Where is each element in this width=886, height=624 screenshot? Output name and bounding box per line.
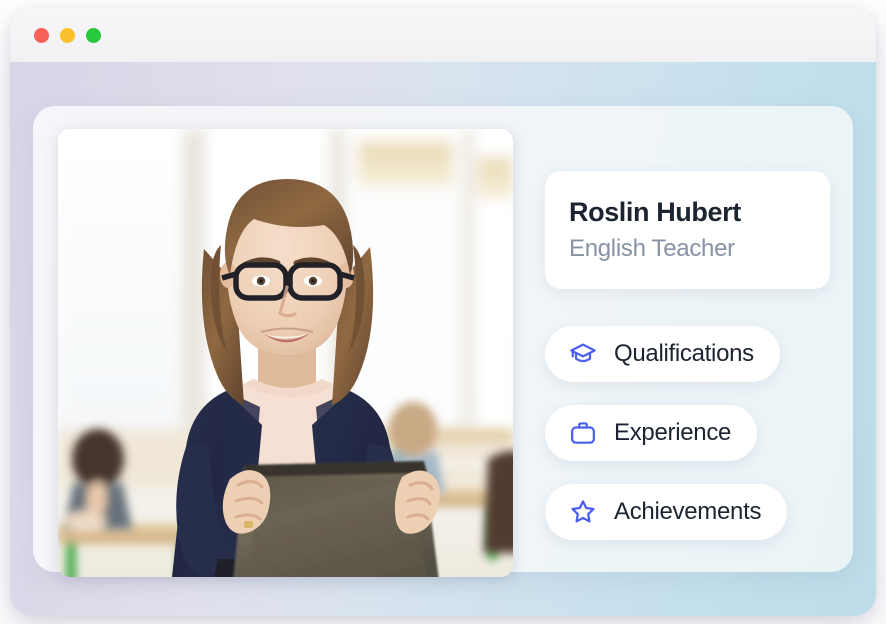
person-role: English Teacher: [569, 233, 830, 264]
action-list: Qualifications Experience: [545, 326, 841, 540]
star-icon: [569, 498, 597, 526]
qualifications-label: Qualifications: [614, 340, 754, 368]
qualifications-button[interactable]: Qualifications: [545, 326, 780, 382]
experience-button[interactable]: Experience: [545, 405, 757, 461]
close-window-button[interactable]: [34, 28, 49, 43]
maximize-window-button[interactable]: [86, 28, 101, 43]
minimize-window-button[interactable]: [60, 28, 75, 43]
experience-label: Experience: [614, 419, 731, 447]
details-panel: Roslin Hubert English Teacher Qualificat: [545, 171, 841, 540]
profile-name-card: Roslin Hubert English Teacher: [545, 171, 830, 289]
teacher-profile-card: Roslin Hubert English Teacher Qualificat: [33, 106, 853, 572]
graduation-cap-icon: [569, 340, 597, 368]
page-body: Roslin Hubert English Teacher Qualificat: [10, 62, 876, 616]
achievements-label: Achievements: [614, 498, 761, 526]
briefcase-icon: [569, 419, 597, 447]
browser-window: Roslin Hubert English Teacher Qualificat: [10, 8, 876, 616]
achievements-button[interactable]: Achievements: [545, 484, 787, 540]
window-title-bar: [10, 8, 876, 62]
person-name: Roslin Hubert: [569, 197, 830, 228]
teacher-photo: [58, 129, 513, 577]
